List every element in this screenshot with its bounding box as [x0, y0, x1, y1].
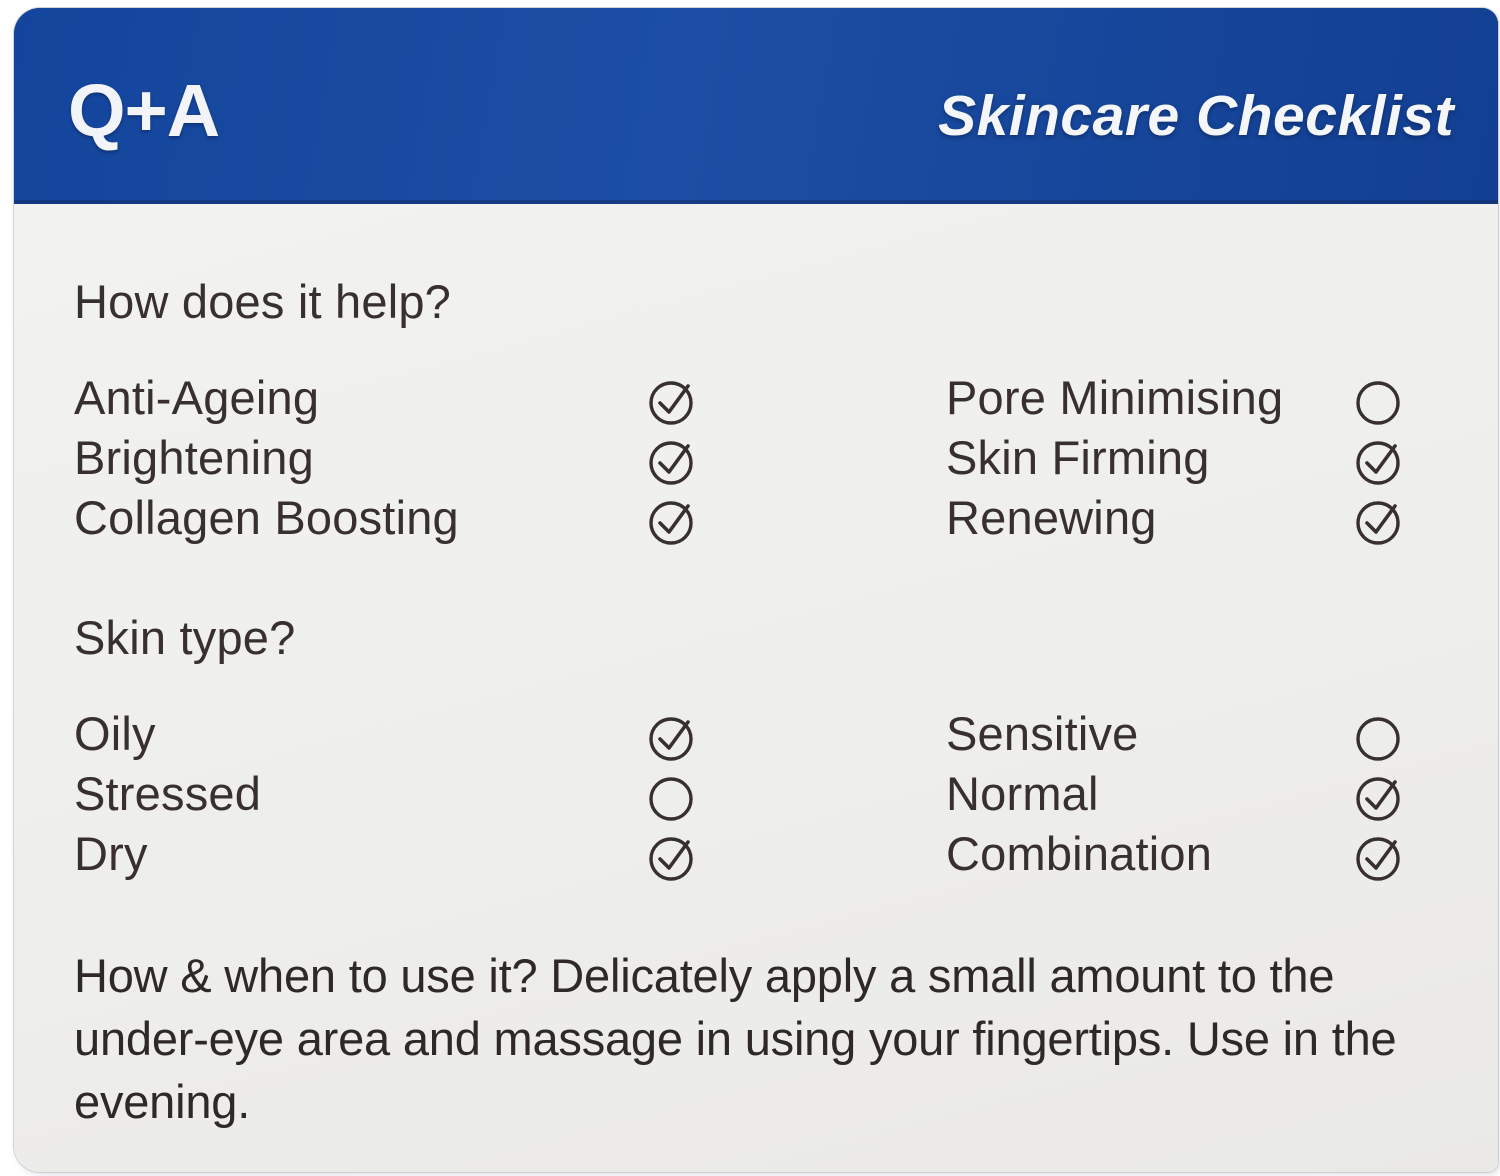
card-header: Q+A Skincare Checklist: [14, 8, 1498, 204]
list-item-label: Pore Minimising: [946, 372, 1283, 424]
check-circle-icon[interactable]: [1356, 774, 1404, 822]
list-item[interactable]: Pore Minimising: [946, 372, 1456, 432]
skincare-checklist-card: Q+A Skincare Checklist How does it help?…: [14, 8, 1498, 1172]
brand-logo: Q+A: [68, 74, 219, 148]
skin-type-right-column: Sensitive Normal Combination: [946, 708, 1456, 888]
list-item-label: Stressed: [74, 768, 261, 820]
check-circle-icon[interactable]: [649, 498, 697, 546]
section-heading-how-does-it-help: How does it help?: [74, 278, 451, 325]
list-item-label: Brightening: [74, 432, 314, 484]
list-item[interactable]: Brightening: [74, 432, 714, 492]
list-item[interactable]: Normal: [946, 768, 1456, 828]
benefits-right-column: Pore Minimising Skin Firming Renewing: [946, 372, 1456, 552]
benefits-left-column: Anti-Ageing Brightening: [74, 372, 714, 552]
list-item[interactable]: Skin Firming: [946, 432, 1456, 492]
check-circle-icon[interactable]: [649, 834, 697, 882]
header-title: Skincare Checklist: [938, 88, 1454, 145]
check-circle-icon[interactable]: [649, 438, 697, 486]
usage-instructions: How & when to use it? Delicately apply a…: [74, 944, 1474, 1133]
card-body: How does it help? Anti-Ageing Brightenin…: [14, 204, 1498, 1172]
list-item[interactable]: Collagen Boosting: [74, 492, 714, 552]
list-item-label: Normal: [946, 768, 1099, 820]
list-item-label: Skin Firming: [946, 432, 1210, 484]
list-item[interactable]: Sensitive: [946, 708, 1456, 768]
skin-type-left-column: Oily Stressed Dry: [74, 708, 714, 888]
list-item-label: Collagen Boosting: [74, 492, 459, 544]
empty-circle-icon[interactable]: [649, 774, 697, 822]
empty-circle-icon[interactable]: [1356, 378, 1404, 426]
list-item-label: Combination: [946, 828, 1212, 880]
section-heading-skin-type: Skin type?: [74, 614, 295, 661]
check-circle-icon[interactable]: [1356, 498, 1404, 546]
check-circle-icon[interactable]: [1356, 834, 1404, 882]
list-item[interactable]: Dry: [74, 828, 714, 888]
check-circle-icon[interactable]: [1356, 438, 1404, 486]
list-item[interactable]: Combination: [946, 828, 1456, 888]
check-circle-icon[interactable]: [649, 714, 697, 762]
list-item-label: Anti-Ageing: [74, 372, 319, 424]
list-item-label: Dry: [74, 828, 148, 880]
list-item[interactable]: Stressed: [74, 768, 714, 828]
list-item[interactable]: Renewing: [946, 492, 1456, 552]
list-item-label: Renewing: [946, 492, 1157, 544]
empty-circle-icon[interactable]: [1356, 714, 1404, 762]
check-circle-icon[interactable]: [649, 378, 697, 426]
list-item[interactable]: Anti-Ageing: [74, 372, 714, 432]
list-item[interactable]: Oily: [74, 708, 714, 768]
list-item-label: Oily: [74, 708, 156, 760]
list-item-label: Sensitive: [946, 708, 1139, 760]
